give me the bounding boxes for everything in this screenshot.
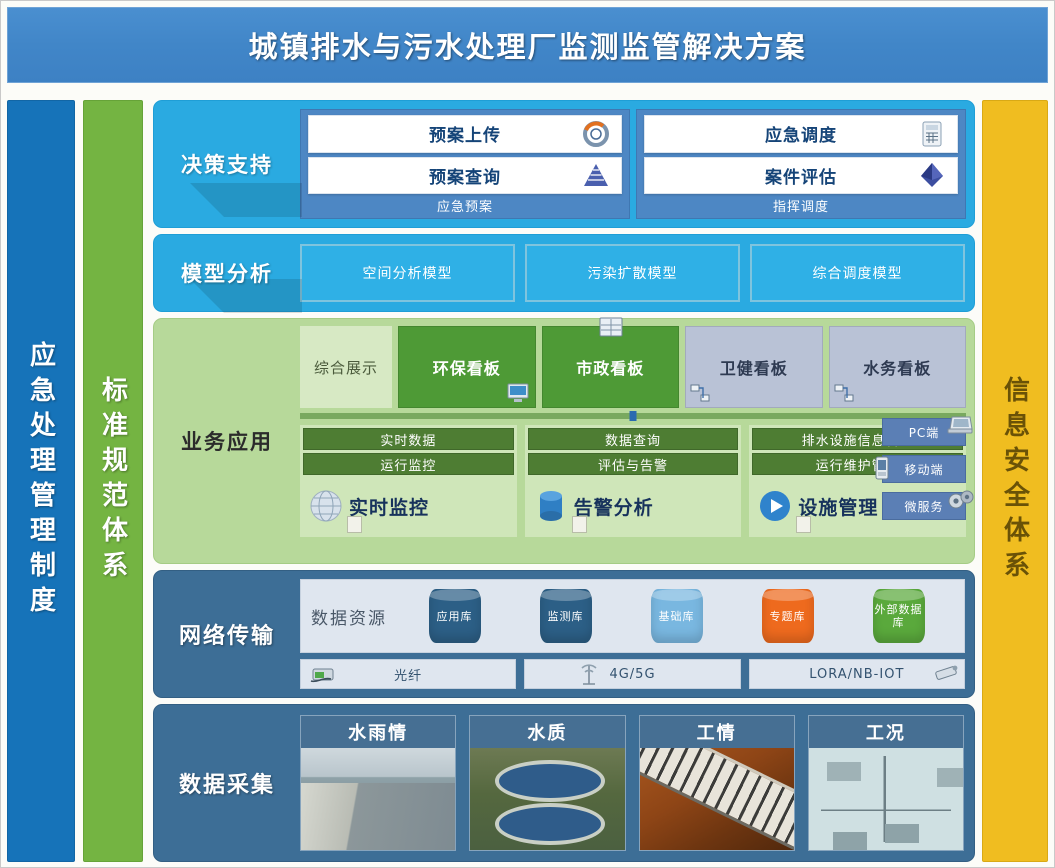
layer-network-transmission: 网络传输 数据资源 应用库 监测库 基础库 专题库 外部数据库: [153, 570, 975, 698]
sensor-icon: [932, 662, 960, 682]
card-emergency-dispatch[interactable]: 应急调度: [644, 115, 958, 153]
card-plan-query[interactable]: 预案查询: [308, 157, 622, 195]
channel-lora-label: LORA/NB-IOT: [809, 667, 904, 682]
device-mobile[interactable]: 移动端: [882, 455, 966, 483]
gears-icon: [947, 489, 973, 509]
thumbnail-rainfall: [301, 748, 455, 850]
card-emergency-dispatch-label: 应急调度: [765, 121, 837, 146]
network-icon: [834, 383, 856, 403]
layer-decision-label: 决策支持: [154, 101, 300, 227]
layer-model-label: 模型分析: [154, 235, 300, 311]
window-icon: [599, 317, 621, 337]
db-external[interactable]: 外部数据库: [873, 589, 925, 643]
model-card-spatial[interactable]: 空间分析模型: [300, 244, 515, 302]
db-monitoring[interactable]: 监测库: [540, 589, 592, 643]
data-cell-works[interactable]: 工情: [639, 715, 795, 851]
play-icon: [758, 489, 792, 523]
data-resource-title: 数据资源: [311, 604, 387, 629]
db-basic[interactable]: 基础库: [651, 589, 703, 643]
chip-realtime-data[interactable]: 实时数据: [303, 428, 514, 450]
data-cell-waterquality[interactable]: 水质: [469, 715, 625, 851]
card-case-evaluation-label: 案件评估: [765, 163, 837, 188]
model-card-dispatch[interactable]: 综合调度模型: [750, 244, 965, 302]
db-thematic[interactable]: 专题库: [762, 589, 814, 643]
cycle-icon: [583, 121, 609, 147]
card-plan-upload[interactable]: 预案上传: [308, 115, 622, 153]
mobile-icon: [873, 456, 899, 476]
dashboard-shuiwu-label: 水务看板: [863, 355, 931, 379]
dashboard-shuiwu[interactable]: 水务看板: [829, 326, 967, 408]
layer-model-analysis: 模型分析 空间分析模型 污染扩散模型 综合调度模型: [153, 234, 975, 312]
business-column-alarm: 数据查询 评估与告警 告警分析: [525, 425, 742, 537]
layer-business-label: 业务应用: [154, 319, 300, 563]
decision-group-command-label: 指挥调度: [644, 198, 958, 218]
side-column-emergency: 应急处理管理制度: [7, 100, 75, 862]
pyramid-icon: [583, 162, 609, 188]
card-case-evaluation[interactable]: 案件评估: [644, 157, 958, 195]
side-column-security: 信息安全体系: [982, 100, 1048, 862]
feature-realtime-monitoring[interactable]: 实时监控: [303, 478, 514, 534]
device-microservice-label: 微服务: [904, 498, 943, 515]
device-mobile-label: 移动端: [904, 461, 943, 478]
dashboard-weijian[interactable]: 卫健看板: [685, 326, 823, 408]
network-icon: [690, 383, 712, 403]
page-icon: [572, 516, 587, 533]
channel-row: 光纤 4G/5G LORA/NB-IOT: [300, 659, 965, 689]
fiber-icon: [309, 665, 337, 685]
data-cell-condition-label: 工况: [809, 716, 963, 748]
layer-stack: 决策支持 预案上传 预案查询: [153, 100, 975, 862]
dashboard-huanbao-label: 环保看板: [433, 355, 501, 379]
chip-operation-monitor[interactable]: 运行监控: [303, 453, 514, 475]
page-icon: [347, 516, 362, 533]
dashboard-shizheng-label: 市政看板: [576, 355, 644, 379]
dashboard-huanbao[interactable]: 环保看板: [398, 326, 536, 408]
data-cell-rainfall-label: 水雨情: [301, 716, 455, 748]
decision-group-command: 应急调度 案件评估: [636, 109, 966, 219]
monitor-icon: [507, 383, 529, 403]
dashboard-row-title: 综合展示: [300, 326, 392, 408]
side-column-standard: 标准规范体系: [83, 100, 143, 862]
diagram-title-bar: 城镇排水与污水处理厂监测监管解决方案: [7, 7, 1048, 83]
channel-fiber[interactable]: 光纤: [300, 659, 516, 689]
side-column-standard-label: 标准规范体系: [95, 376, 132, 586]
thumbnail-works: [640, 748, 794, 850]
dashboard-weijian-label: 卫健看板: [720, 355, 788, 379]
chip-data-query[interactable]: 数据查询: [528, 428, 739, 450]
layer-decision-support: 决策支持 预案上传 预案查询: [153, 100, 975, 228]
card-plan-upload-label: 预案上传: [429, 121, 501, 146]
layer-network-label: 网络传输: [154, 571, 300, 697]
data-cell-rainfall[interactable]: 水雨情: [300, 715, 456, 851]
database-icon: [534, 489, 568, 523]
decision-group-plan: 预案上传 预案查询: [300, 109, 630, 219]
page-title: 城镇排水与污水处理厂监测监管解决方案: [248, 24, 806, 66]
device-microservice[interactable]: 微服务: [882, 492, 966, 520]
thumbnail-waterquality: [470, 748, 624, 850]
dashboard-shizheng[interactable]: 市政看板: [542, 326, 680, 408]
page-icon: [796, 516, 811, 533]
diagram-canvas: 城镇排水与污水处理厂监测监管解决方案 应急处理管理制度 标准规范体系 信息安全体…: [0, 0, 1055, 868]
decision-group-plan-label: 应急预案: [308, 198, 622, 218]
device-pc[interactable]: PC端: [882, 418, 966, 446]
data-resource-row: 数据资源 应用库 监测库 基础库 专题库 外部数据库: [300, 579, 965, 653]
card-plan-query-label: 预案查询: [429, 163, 501, 188]
globe-icon: [309, 489, 343, 523]
device-badges: PC端 移动端: [882, 418, 966, 520]
laptop-icon: [947, 415, 973, 435]
layer-data-acquisition: 数据采集 水雨情 水质 工情 工况: [153, 704, 975, 862]
layer-business-application: 业务应用 综合展示 环保看板: [153, 318, 975, 564]
model-card-pollution[interactable]: 污染扩散模型: [525, 244, 740, 302]
device-pc-label: PC端: [909, 424, 940, 441]
data-cell-condition[interactable]: 工况: [808, 715, 964, 851]
thumbnail-condition: [809, 748, 963, 850]
side-column-security-label: 信息安全体系: [997, 376, 1034, 586]
diamond-icon: [919, 162, 945, 188]
side-column-emergency-label: 应急处理管理制度: [23, 341, 60, 621]
business-column-monitor: 实时数据 运行监控 实时监控: [300, 425, 517, 537]
antenna-icon: [579, 662, 607, 682]
channel-cellular[interactable]: 4G/5G: [524, 659, 740, 689]
feature-alarm-analysis[interactable]: 告警分析: [528, 478, 739, 534]
layer-data-label: 数据采集: [154, 705, 300, 861]
data-cell-works-label: 工情: [640, 716, 794, 748]
dashboard-row: 综合展示 环保看板 市政看板: [300, 326, 966, 408]
channel-cellular-label: 4G/5G: [609, 667, 655, 682]
divider-knob: [630, 411, 637, 421]
calculator-icon: [919, 121, 945, 147]
channel-fiber-label: 光纤: [394, 665, 422, 684]
business-divider: [300, 413, 966, 419]
chip-assessment-alarm[interactable]: 评估与告警: [528, 453, 739, 475]
data-cell-waterquality-label: 水质: [470, 716, 624, 748]
db-application[interactable]: 应用库: [429, 589, 481, 643]
channel-lora[interactable]: LORA/NB-IOT: [749, 659, 965, 689]
business-columns: 实时数据 运行监控 实时监控: [300, 425, 966, 537]
